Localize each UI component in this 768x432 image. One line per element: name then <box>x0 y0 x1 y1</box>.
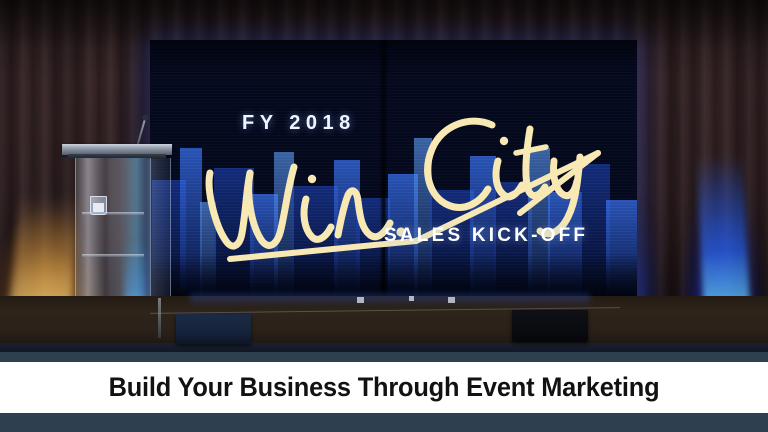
podium-shelf <box>82 254 144 257</box>
water-glass <box>90 196 107 215</box>
stage-light-fixture <box>448 297 455 303</box>
caption-title: Build Your Business Through Event Market… <box>109 372 660 403</box>
stage-light-fixture <box>357 297 364 303</box>
event-stage-photo: FY 2018 <box>0 0 768 352</box>
stage-floor-glow <box>190 294 590 306</box>
stage-front-edge <box>0 343 768 352</box>
lighting-truss-upright <box>158 298 161 338</box>
caption-top-rule <box>0 352 768 362</box>
featured-image-card: FY 2018 <box>0 0 768 432</box>
stage-floor <box>0 296 768 352</box>
caption-bar: Build Your Business Through Event Market… <box>0 362 768 413</box>
stage-light-fixture <box>409 296 414 301</box>
stage-monitor-speaker-left <box>176 314 251 344</box>
caption-bottom-rule <box>0 413 768 432</box>
stage-monitor-speaker-right <box>512 310 588 342</box>
